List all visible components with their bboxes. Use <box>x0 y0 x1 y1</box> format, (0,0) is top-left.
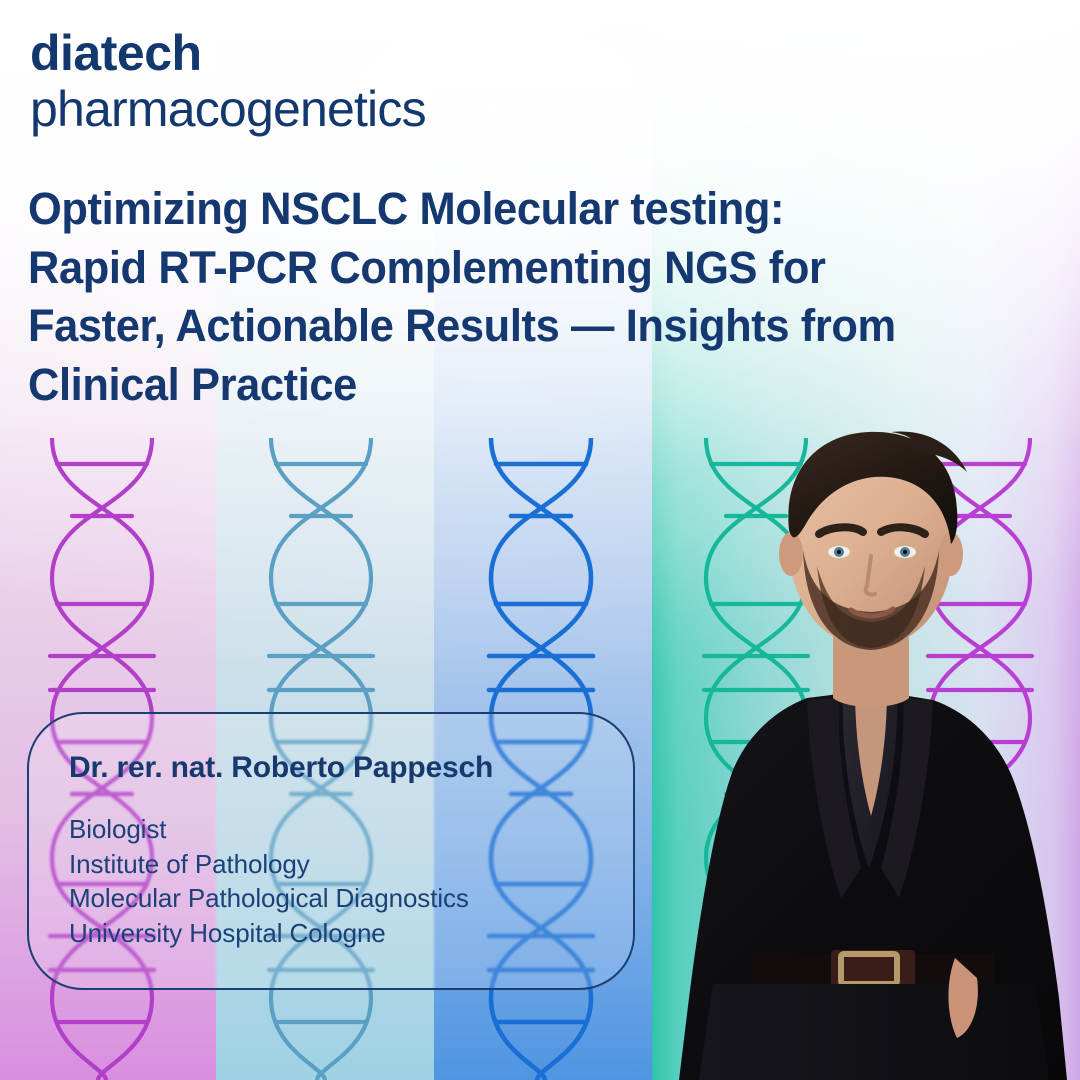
speaker-name: Dr. rer. nat. Roberto Pappesch <box>69 750 593 786</box>
page-title: Optimizing NSCLC Molecular testing: Rapi… <box>28 180 954 414</box>
page-title-line: Optimizing NSCLC Molecular testing: <box>28 180 954 239</box>
speaker-affiliation-line: Biologist <box>69 812 593 847</box>
page-title-line: Rapid RT-PCR Complementing NGS for <box>28 239 954 298</box>
webinar-announcement-poster: diatech pharmacogenetics Optimizing NSCL… <box>0 0 1080 1080</box>
speaker-affiliation-line: Institute of Pathology <box>69 847 593 882</box>
speaker-affiliation-line: Molecular Pathological Diagnostics <box>69 881 593 916</box>
page-title-line: Faster, Actionable Results — Insights fr… <box>28 297 954 356</box>
speaker-photo <box>655 398 1080 1080</box>
page-title-line: Clinical Practice <box>28 356 954 415</box>
speaker-affiliation-line: University Hospital Cologne <box>69 916 593 951</box>
brand-logo-name: diatech <box>30 28 426 78</box>
speaker-affiliation: Biologist Institute of Pathology Molecul… <box>69 812 593 950</box>
brand-logo: diatech pharmacogenetics <box>30 28 426 134</box>
brand-logo-tagline: pharmacogenetics <box>30 84 426 134</box>
speaker-info-card: Dr. rer. nat. Roberto Pappesch Biologist… <box>27 712 635 990</box>
